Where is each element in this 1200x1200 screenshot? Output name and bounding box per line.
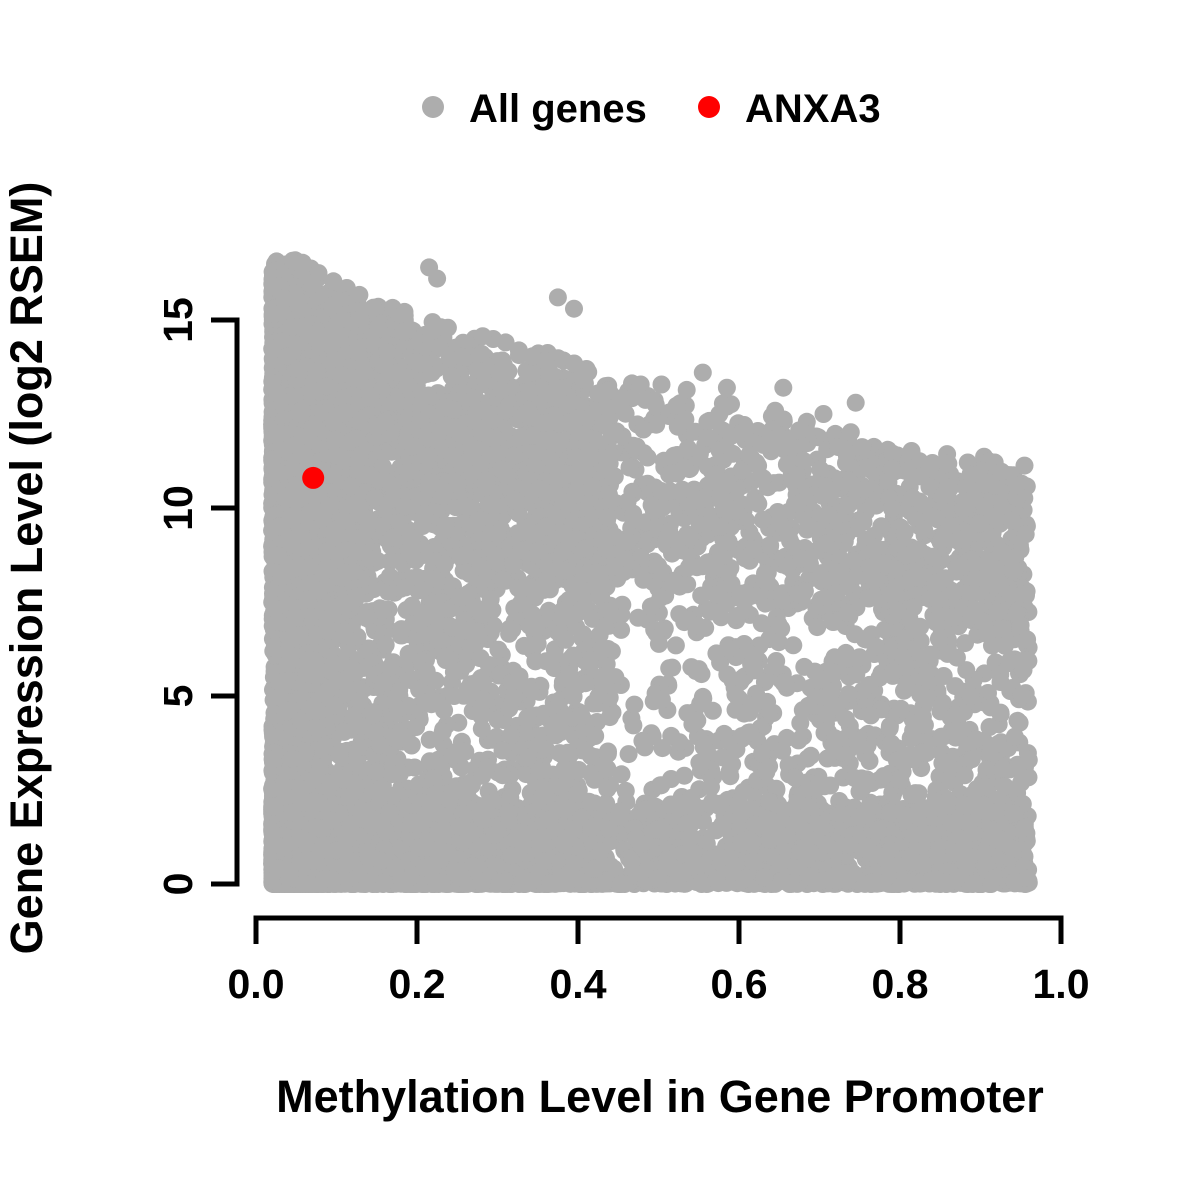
legend-label-anxa3: ANXA3 xyxy=(745,87,881,131)
data-point xyxy=(624,716,642,734)
data-point xyxy=(667,636,685,654)
legend-label-all-genes: All genes xyxy=(469,87,647,131)
legend-marker-anxa3 xyxy=(698,96,720,118)
legend-marker-all-genes xyxy=(422,96,444,118)
data-point xyxy=(612,621,630,639)
data-point xyxy=(617,782,635,800)
chart-canvas: All genes ANXA3 051015 Gene Expression L… xyxy=(0,0,1200,1200)
scatter-plot-figure: All genes ANXA3 051015 Gene Expression L… xyxy=(0,0,1200,1200)
